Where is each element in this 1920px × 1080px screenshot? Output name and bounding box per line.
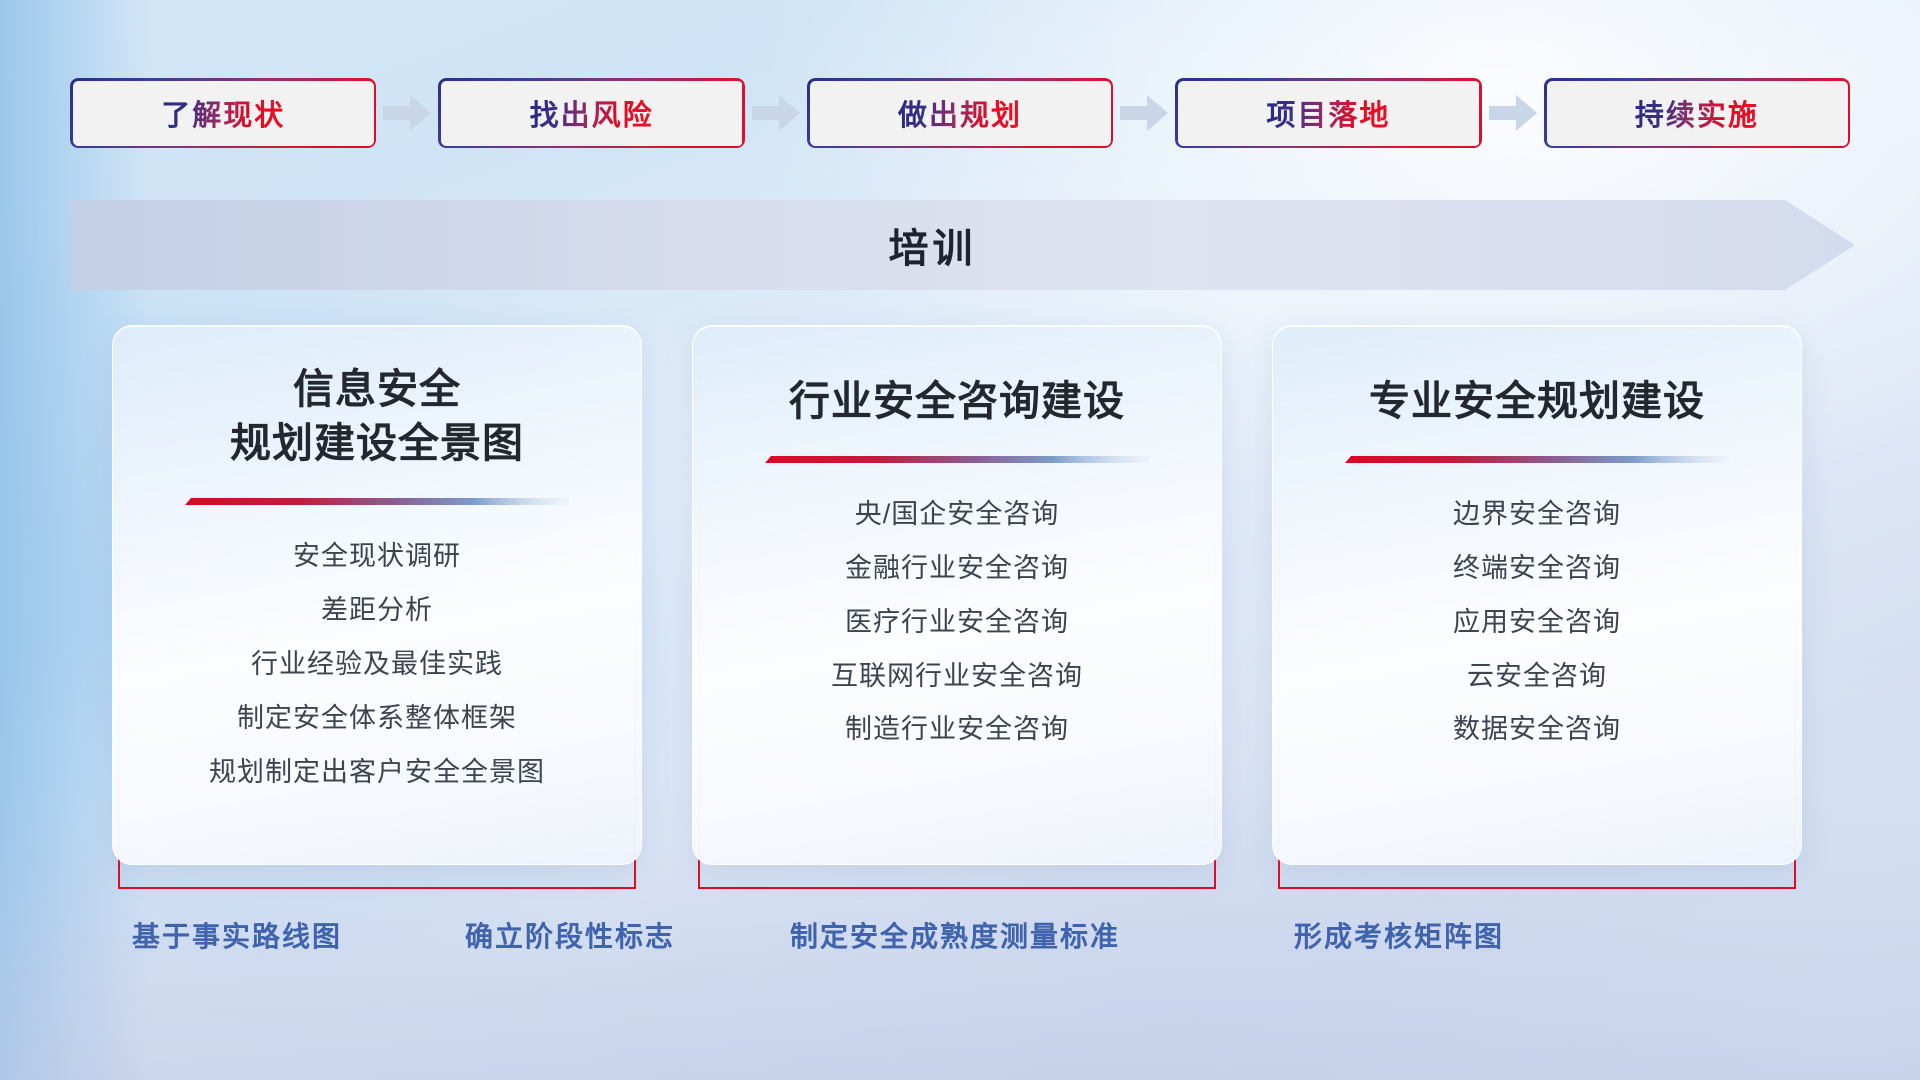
caption-3: 形成考核矩阵图: [1294, 915, 1504, 955]
training-banner: 培训: [70, 200, 1855, 290]
step-label: 找出风险: [530, 92, 654, 134]
step-label: 做出规划: [898, 92, 1022, 134]
list-item: 差距分析: [321, 590, 433, 632]
list-item: 互联网行业安全咨询: [831, 656, 1083, 698]
arrow-right-icon: [1482, 90, 1544, 136]
list-item: 金融行业安全咨询: [845, 548, 1069, 590]
caption-1: 确立阶段性标志: [465, 915, 675, 955]
card-group: 信息安全 规划建设全景图 安全现状调研: [0, 325, 1920, 885]
card-title: 行业安全咨询建设: [789, 374, 1125, 428]
card-1[interactable]: 行业安全咨询建设 央/国企安全咨询: [692, 325, 1222, 885]
title-divider: [1345, 454, 1729, 466]
banner-label: 培训: [70, 200, 1855, 290]
arrow-right-icon: [745, 90, 807, 136]
list-item: 规划制定出客户安全全景图: [209, 752, 545, 794]
caption-row: 基于事实路线图 确立阶段性标志 制定安全成熟度测量标准 形成考核矩阵图: [0, 915, 1920, 985]
list-item: 行业经验及最佳实践: [251, 644, 503, 686]
step-label: 了解现状: [161, 92, 285, 134]
card-list: 安全现状调研 差距分析 行业经验及最佳实践 制定安全体系整体框架 规划制定出客户…: [113, 536, 641, 793]
list-item: 云安全咨询: [1467, 656, 1607, 698]
card-2[interactable]: 专业安全规划建设 边界安全咨询: [1272, 325, 1802, 885]
arrow-right-icon: [1113, 90, 1175, 136]
title-divider: [185, 496, 569, 508]
caption-2: 制定安全成熟度测量标准: [790, 915, 1120, 955]
step-item-0[interactable]: 了解现状: [70, 78, 376, 148]
step-flow: 了解现状 找出风险 做出规划 项目落地 持续实施: [70, 78, 1850, 148]
title-divider: [765, 454, 1149, 466]
list-item: 制定安全体系整体框架: [237, 698, 517, 740]
card-body: 行业安全咨询建设 央/国企安全咨询: [692, 325, 1222, 865]
list-item: 终端安全咨询: [1453, 548, 1621, 590]
step-label: 持续实施: [1635, 92, 1759, 134]
arrow-right-icon: [376, 90, 438, 136]
card-title: 专业安全规划建设: [1369, 374, 1705, 428]
card-0[interactable]: 信息安全 规划建设全景图 安全现状调研: [112, 325, 642, 885]
list-item: 数据安全咨询: [1453, 709, 1621, 751]
card-body: 信息安全 规划建设全景图 安全现状调研: [112, 325, 642, 865]
step-item-2[interactable]: 做出规划: [807, 78, 1113, 148]
card-list: 央/国企安全咨询 金融行业安全咨询 医疗行业安全咨询 互联网行业安全咨询 制造行…: [693, 494, 1221, 751]
card-title: 信息安全 规划建设全景图: [230, 362, 524, 470]
list-item: 医疗行业安全咨询: [845, 602, 1069, 644]
step-item-4[interactable]: 持续实施: [1544, 78, 1850, 148]
list-item: 制造行业安全咨询: [845, 709, 1069, 751]
step-item-1[interactable]: 找出风险: [438, 78, 744, 148]
list-item: 边界安全咨询: [1453, 494, 1621, 536]
caption-0: 基于事实路线图: [132, 915, 342, 955]
step-label: 项目落地: [1266, 92, 1390, 134]
list-item: 应用安全咨询: [1453, 602, 1621, 644]
list-item: 央/国企安全咨询: [855, 494, 1060, 536]
list-item: 安全现状调研: [293, 536, 461, 578]
card-list: 边界安全咨询 终端安全咨询 应用安全咨询 云安全咨询 数据安全咨询: [1273, 494, 1801, 751]
step-item-3[interactable]: 项目落地: [1175, 78, 1481, 148]
card-body: 专业安全规划建设 边界安全咨询: [1272, 325, 1802, 865]
